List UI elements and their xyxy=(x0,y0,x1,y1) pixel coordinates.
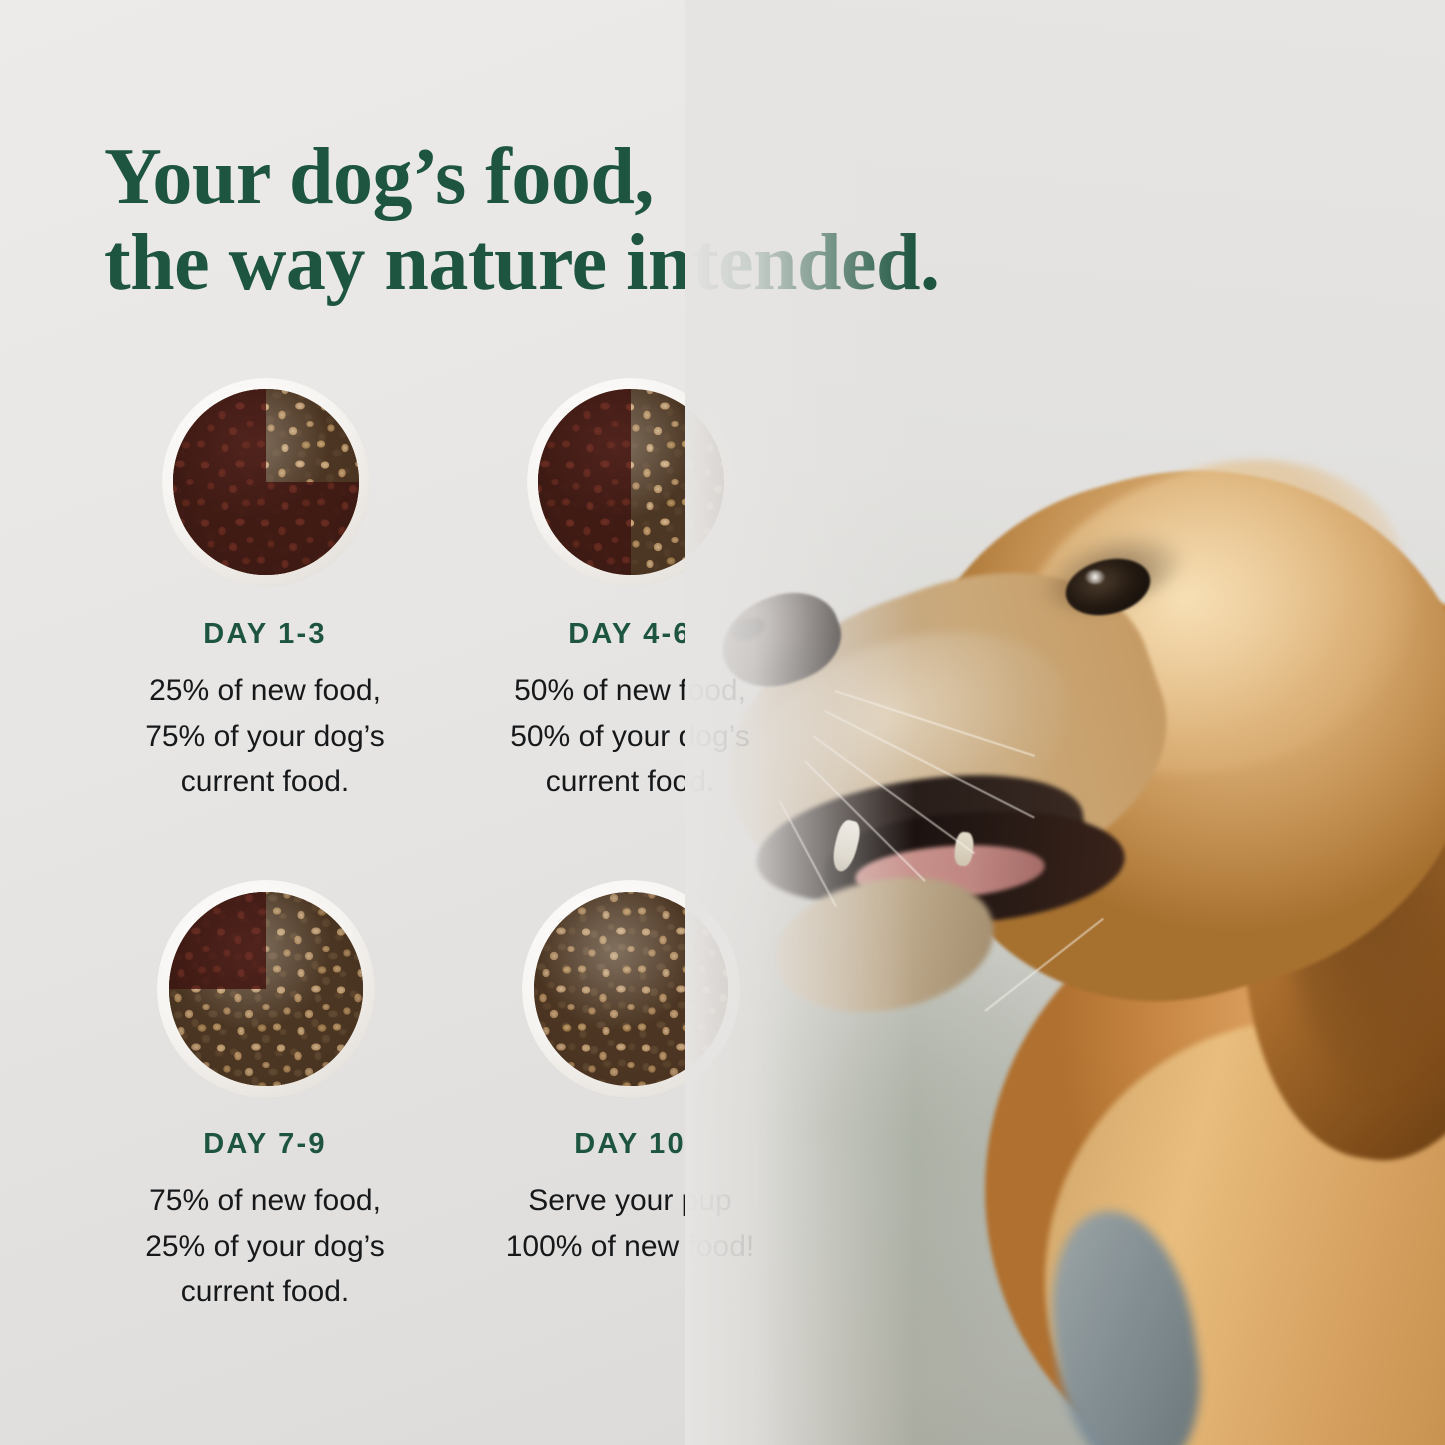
step-description-1: 25% of new food, 75% of your dog’s curre… xyxy=(105,668,425,805)
headline-line-1: Your dog’s food, xyxy=(104,134,1064,220)
day-label-3: DAY 7-9 xyxy=(105,1128,425,1161)
desc-line: 25% of new food, xyxy=(105,668,425,714)
bowl-day-1-3 xyxy=(162,378,370,586)
current-food-tint xyxy=(169,892,363,1086)
page-title: Your dog’s food, the way nature intended… xyxy=(104,134,1064,307)
desc-line: current food. xyxy=(105,759,425,805)
step-card-day-1-3: DAY 1-3 25% of new food, 75% of your dog… xyxy=(105,378,425,848)
desc-line: 25% of your dog’s xyxy=(105,1224,425,1270)
desc-line: 75% of your dog’s xyxy=(105,714,425,760)
current-food-overlay-group xyxy=(169,892,363,1086)
headline-line-2: the way nature intended. xyxy=(104,220,1064,306)
photo-left-fade xyxy=(685,0,915,1445)
step-card-day-7-9: DAY 7-9 75% of new food, 25% of your dog… xyxy=(105,880,425,1360)
bowl-food xyxy=(173,389,359,575)
bowl-day-7-9 xyxy=(157,880,375,1098)
infographic-root: Your dog’s food, the way nature intended… xyxy=(0,0,1445,1445)
day-label-1: DAY 1-3 xyxy=(105,618,425,651)
step-description-3: 75% of new food, 25% of your dog’s curre… xyxy=(105,1178,425,1315)
dog-eye-glint xyxy=(1085,570,1105,584)
desc-line: current food. xyxy=(105,1269,425,1315)
bowl-food xyxy=(169,892,363,1086)
current-food-overlay-group xyxy=(173,389,359,575)
dog-photo xyxy=(685,0,1445,1445)
desc-line: 75% of new food, xyxy=(105,1178,425,1224)
